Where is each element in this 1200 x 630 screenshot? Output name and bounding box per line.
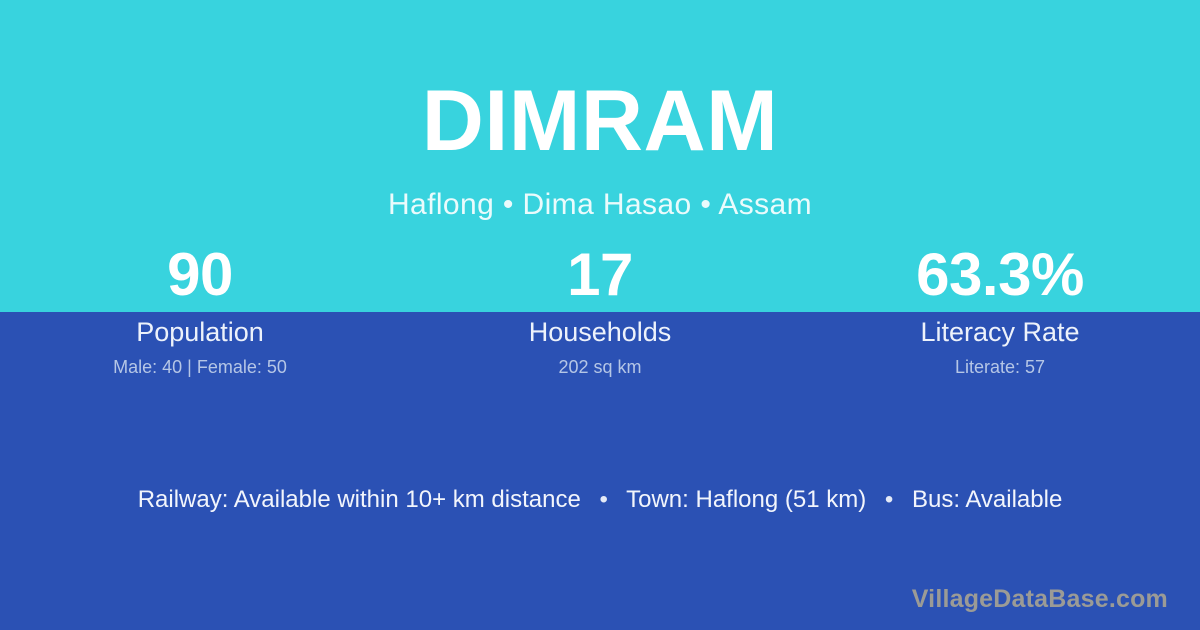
stat-label-population: Population	[0, 316, 400, 348]
stat-value-literacy-rate: 63.3%	[800, 238, 1200, 312]
breadcrumb: Haflong • Dima Hasao • Assam	[0, 188, 1200, 221]
amenity-separator-1: •	[587, 484, 619, 516]
stat-literacy-rate: 63.3% Literacy Rate Literate: 57	[800, 238, 1200, 378]
stat-sub-households: 202 sq km	[400, 356, 800, 378]
amenity-bus: Bus: Available	[912, 486, 1062, 513]
stat-label-households: Households	[400, 316, 800, 348]
stat-value-households: 17	[400, 238, 800, 312]
amenity-town: Town: Haflong (51 km)	[626, 486, 866, 513]
amenity-separator-2: •	[873, 484, 905, 516]
stat-value-population: 90	[0, 238, 400, 312]
amenity-railway: Railway: Available within 10+ km distanc…	[138, 486, 581, 513]
brand-watermark: VillageDataBase.com	[912, 584, 1168, 614]
stats-row: 90 Population Male: 40 | Female: 50 17 H…	[0, 238, 1200, 378]
village-info-card: DIMRAM Haflong • Dima Hasao • Assam 90 P…	[0, 0, 1200, 630]
stat-population: 90 Population Male: 40 | Female: 50	[0, 238, 400, 378]
card-header: DIMRAM Haflong • Dima Hasao • Assam	[0, 0, 1200, 221]
stat-sub-population: Male: 40 | Female: 50	[0, 356, 400, 378]
stat-households: 17 Households 202 sq km	[400, 238, 800, 378]
page-title: DIMRAM	[0, 78, 1200, 164]
stat-sub-literacy-rate: Literate: 57	[800, 356, 1200, 378]
stat-label-literacy-rate: Literacy Rate	[800, 316, 1200, 348]
amenities-strip: Railway: Available within 10+ km distanc…	[0, 484, 1200, 516]
